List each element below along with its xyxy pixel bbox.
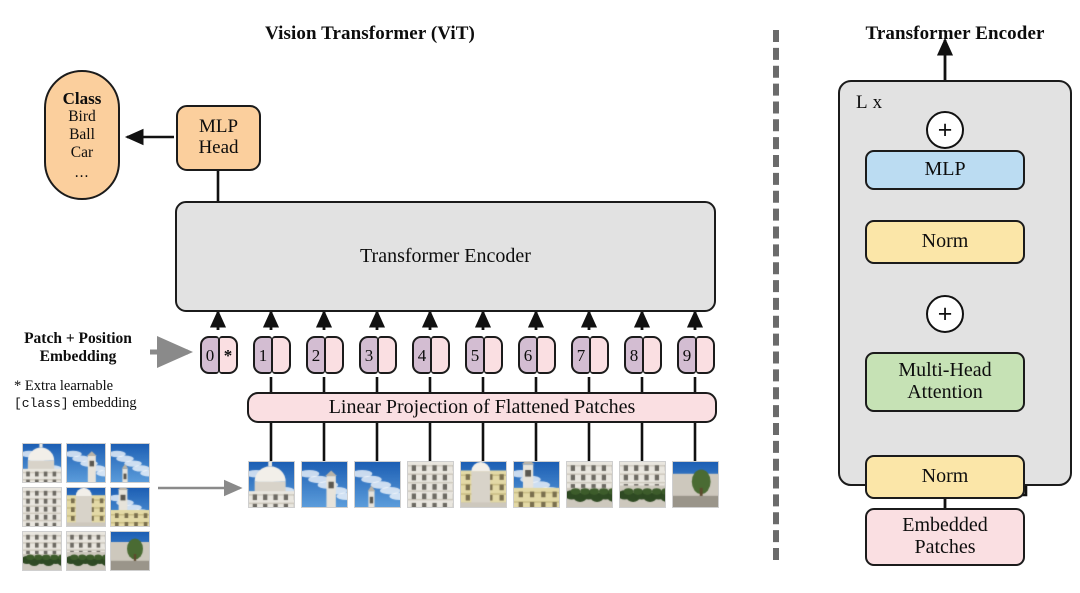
token-5[interactable]: 5 <box>465 336 503 374</box>
extra-learnable-note: * Extra learnable [class] embedding <box>14 378 174 413</box>
token-7-embedding <box>590 336 609 374</box>
source-patch-r0-c1 <box>66 443 106 483</box>
encoder-norm-bottom-box[interactable]: Norm <box>865 455 1025 499</box>
class-item-ball: Ball <box>69 126 95 144</box>
token-5-embedding <box>484 336 503 374</box>
flattened-patch-4 <box>407 461 454 508</box>
residual-add-top: + <box>926 111 964 149</box>
note-line2-tail: embedding <box>69 395 137 411</box>
flattened-patch-2 <box>301 461 348 508</box>
multi-head-attention-box[interactable]: Multi-Head Attention <box>865 352 1025 412</box>
token-2[interactable]: 2 <box>306 336 344 374</box>
token-0[interactable]: 0* <box>200 336 238 374</box>
source-patch-r2-c1 <box>66 531 106 571</box>
mha-line1: Multi-Head <box>898 360 991 382</box>
token-0-index: 0 <box>200 336 219 374</box>
source-patch-r2-c2 <box>110 531 150 571</box>
source-patch-r1-c1 <box>66 487 106 527</box>
token-8[interactable]: 8 <box>624 336 662 374</box>
token-1-index: 1 <box>253 336 272 374</box>
encoder-norm-bottom-label: Norm <box>922 466 969 488</box>
right-panel-title: Transformer Encoder <box>830 23 1080 45</box>
class-output-pill[interactable]: Class Bird Ball Car ... <box>44 70 120 200</box>
patch-position-embedding-caption: Patch + Position Embedding <box>4 330 152 365</box>
token-1-embedding <box>272 336 291 374</box>
source-patch-r2-c0 <box>22 531 62 571</box>
encoder-mlp-label: MLP <box>924 159 965 181</box>
linear-projection-label: Linear Projection of Flattened Patches <box>329 397 636 419</box>
note-line1: * Extra learnable <box>14 378 174 395</box>
token-4-embedding <box>431 336 450 374</box>
flattened-patch-1 <box>248 461 295 508</box>
token-3-index: 3 <box>359 336 378 374</box>
flattened-patch-3 <box>354 461 401 508</box>
token-9[interactable]: 9 <box>677 336 715 374</box>
caption-line2: Embedding <box>4 348 152 366</box>
source-patch-r0-c0 <box>22 443 62 483</box>
token-6[interactable]: 6 <box>518 336 556 374</box>
token-6-index: 6 <box>518 336 537 374</box>
flattened-patch-7 <box>566 461 613 508</box>
flattened-patch-8 <box>619 461 666 508</box>
token-5-index: 5 <box>465 336 484 374</box>
transformer-encoder-box[interactable]: Transformer Encoder <box>175 201 716 312</box>
token-2-embedding <box>325 336 344 374</box>
panel-divider <box>773 30 779 560</box>
class-pill-title: Class <box>63 89 102 108</box>
class-item-bird: Bird <box>68 108 96 126</box>
token-6-embedding <box>537 336 556 374</box>
layer-repeat-label: L x <box>856 92 883 114</box>
embedded-patches-line2: Patches <box>902 537 988 559</box>
residual-add-bottom: + <box>926 295 964 333</box>
class-item-car: Car <box>71 144 93 162</box>
left-panel-title: Vision Transformer (ViT) <box>160 23 580 45</box>
mha-line2: Attention <box>898 382 991 404</box>
token-7-index: 7 <box>571 336 590 374</box>
mlp-head-line1: MLP <box>198 117 238 138</box>
embedded-patches-line1: Embedded <box>902 515 988 537</box>
embedded-patches-box[interactable]: Embedded Patches <box>865 508 1025 566</box>
flattened-patch-5 <box>460 461 507 508</box>
flattened-patch-9 <box>672 461 719 508</box>
encoder-norm-top-box[interactable]: Norm <box>865 220 1025 264</box>
source-patch-r1-c0 <box>22 487 62 527</box>
token-3[interactable]: 3 <box>359 336 397 374</box>
transformer-encoder-label: Transformer Encoder <box>360 246 531 268</box>
note-class-token: [class] <box>14 396 69 411</box>
token-0-embedding: * <box>219 336 238 374</box>
token-8-embedding <box>643 336 662 374</box>
token-9-embedding <box>696 336 715 374</box>
token-3-embedding <box>378 336 397 374</box>
encoder-mlp-box[interactable]: MLP <box>865 150 1025 190</box>
token-2-index: 2 <box>306 336 325 374</box>
token-7[interactable]: 7 <box>571 336 609 374</box>
caption-line1: Patch + Position <box>4 330 152 348</box>
mlp-head-box[interactable]: MLP Head <box>176 105 261 171</box>
source-patch-r1-c2 <box>110 487 150 527</box>
linear-projection-box[interactable]: Linear Projection of Flattened Patches <box>247 392 717 423</box>
source-patch-r0-c2 <box>110 443 150 483</box>
mlp-head-line2: Head <box>198 138 238 159</box>
encoder-norm-top-label: Norm <box>922 231 969 253</box>
token-9-index: 9 <box>677 336 696 374</box>
token-8-index: 8 <box>624 336 643 374</box>
class-item-ellipsis: ... <box>75 162 90 181</box>
figure-canvas: Vision Transformer (ViT) Transformer Enc… <box>0 0 1080 593</box>
note-line2: [class] embedding <box>14 395 174 412</box>
token-4[interactable]: 4 <box>412 336 450 374</box>
token-1[interactable]: 1 <box>253 336 291 374</box>
flattened-patch-6 <box>513 461 560 508</box>
token-4-index: 4 <box>412 336 431 374</box>
